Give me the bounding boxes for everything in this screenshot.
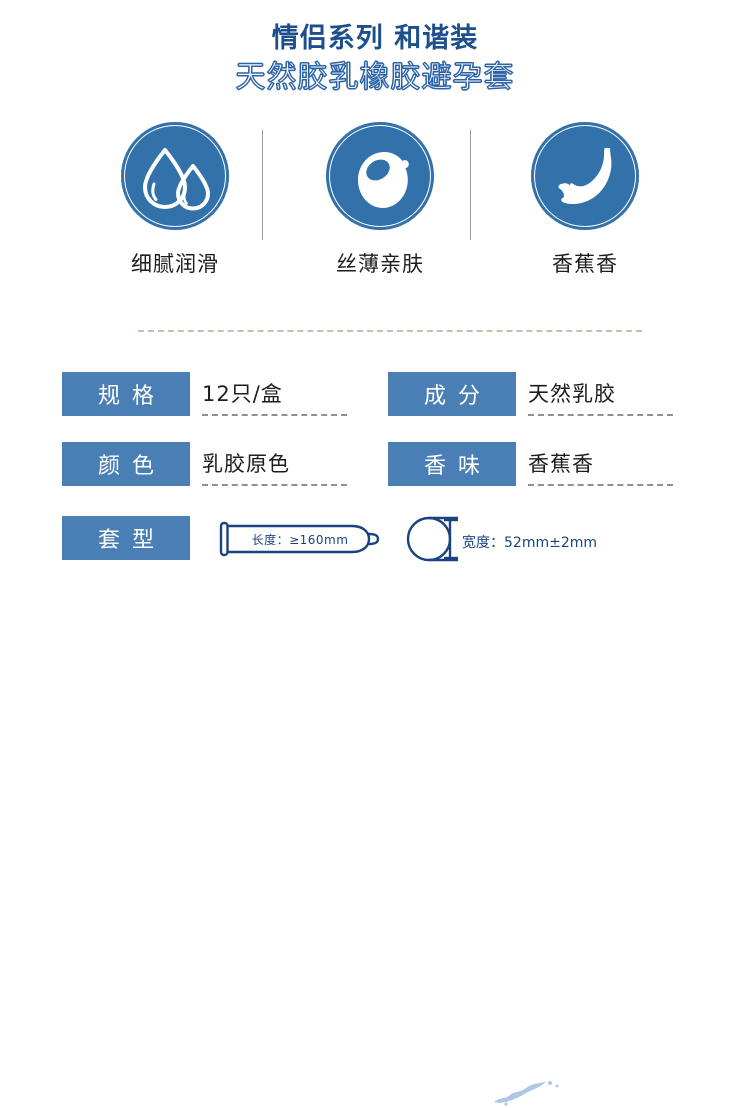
spec-value: 12只/盒 bbox=[202, 372, 347, 416]
spec-value: 乳胶原色 bbox=[202, 442, 347, 486]
banana-icon bbox=[531, 122, 639, 230]
table-row: 规格 12只/盒 bbox=[62, 372, 190, 416]
size-row: 套型 长度：≥160mm bbox=[0, 516, 750, 576]
section-divider bbox=[138, 330, 642, 332]
feature-label: 香蕉香 bbox=[490, 248, 680, 278]
spec-label: 颜色 bbox=[62, 442, 190, 486]
condom-length-diagram: 长度：≥160mm bbox=[212, 517, 392, 566]
spec-label: 成分 bbox=[388, 372, 516, 416]
page-title: 情侣系列 和谐装 天然胶乳橡胶避孕套 bbox=[0, 22, 750, 98]
title-line-1: 情侣系列 和谐装 bbox=[0, 22, 750, 56]
feature-list: 细腻润滑 丝薄亲肤 bbox=[0, 122, 750, 297]
size-label-box: 套型 bbox=[62, 516, 190, 560]
feature-item-lubrication: 细腻润滑 bbox=[80, 122, 270, 278]
spec-value: 香蕉香 bbox=[528, 442, 673, 486]
feature-item-thin: 丝薄亲肤 bbox=[285, 122, 475, 278]
spec-label: 套型 bbox=[62, 516, 190, 560]
feature-label: 细腻润滑 bbox=[80, 248, 270, 278]
table-row: 颜色 乳胶原色 bbox=[62, 442, 190, 486]
product-detail-page: 情侣系列 和谐装 天然胶乳橡胶避孕套 细腻润滑 bbox=[0, 0, 750, 596]
spec-label: 规格 bbox=[62, 372, 190, 416]
feature-item-banana: 香蕉香 bbox=[490, 122, 680, 278]
condom-width-diagram: 宽度：52mm±2mm bbox=[400, 516, 512, 567]
width-text: 宽度：52mm±2mm bbox=[462, 532, 597, 552]
spec-value: 天然乳胶 bbox=[528, 372, 673, 416]
feature-label: 丝薄亲肤 bbox=[285, 248, 475, 278]
condom-balloon-icon bbox=[326, 122, 434, 230]
length-text: 长度：≥160mm bbox=[252, 532, 349, 547]
title-line-2: 天然胶乳橡胶避孕套 bbox=[0, 58, 750, 98]
table-row: 成分 天然乳胶 bbox=[388, 372, 516, 416]
spec-label: 香味 bbox=[388, 442, 516, 486]
watermark-artifact bbox=[488, 1078, 568, 1108]
table-row: 香味 香蕉香 bbox=[388, 442, 516, 486]
feature-separator bbox=[470, 130, 471, 240]
water-drops-icon bbox=[121, 122, 229, 230]
feature-separator bbox=[262, 130, 263, 240]
